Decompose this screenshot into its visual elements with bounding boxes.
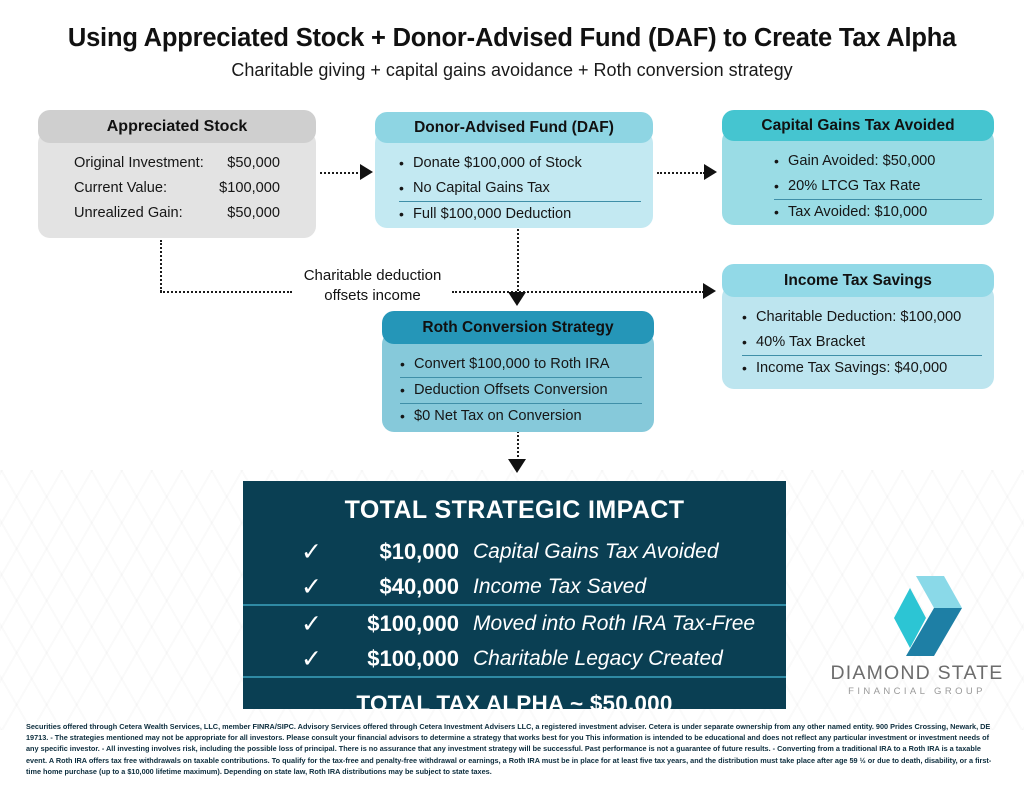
card-title-donor-advised-fund: Donor-Advised Fund (DAF) xyxy=(375,112,653,143)
list-item: 40% Tax Bracket xyxy=(742,330,982,356)
logo-wordmark: DIAMOND STATE xyxy=(824,662,1010,685)
card-title-capital-gains: Capital Gains Tax Avoided xyxy=(722,110,994,141)
list-item: Income Tax Savings: $40,000 xyxy=(742,356,982,381)
list-item: Unrealized Gain: $50,000 xyxy=(38,201,316,226)
metric-value: $100,000 xyxy=(206,176,280,201)
page-title: Using Appreciated Stock + Donor-Advised … xyxy=(0,24,1024,53)
list-item: Tax Avoided: $10,000 xyxy=(774,200,982,225)
impact-amount: $40,000 xyxy=(341,574,459,600)
check-icon: ✓ xyxy=(301,575,341,600)
arrow-stock-to-daf-icon xyxy=(360,164,373,180)
card-title-roth-conversion: Roth Conversion Strategy xyxy=(382,311,654,344)
infographic-canvas: Using Appreciated Stock + Donor-Advised … xyxy=(0,0,1024,791)
disclaimer-text: Securities offered through Cetera Wealth… xyxy=(26,721,1001,777)
metric-value: $50,000 xyxy=(206,151,280,176)
connector-daf-to-roth xyxy=(517,226,519,294)
card-body-donor-advised-fund: Donate $100,000 of Stock No Capital Gain… xyxy=(375,131,653,228)
card-donor-advised-fund: Donor-Advised Fund (DAF) Donate $100,000… xyxy=(375,112,653,228)
connector-roth-to-impact xyxy=(517,428,519,461)
card-body-income-tax-savings: Charitable Deduction: $100,000 40% Tax B… xyxy=(722,285,994,389)
metric-value: $50,000 xyxy=(206,201,280,226)
arrow-to-income-tax-savings-icon xyxy=(703,283,716,299)
list-item: Charitable Deduction: $100,000 xyxy=(742,305,982,330)
card-roth-conversion-strategy: Roth Conversion Strategy Convert $100,00… xyxy=(382,311,654,432)
impact-description: Capital Gains Tax Avoided xyxy=(473,540,719,564)
impact-title: TOTAL STRATEGIC IMPACT xyxy=(243,481,786,525)
connector-label-line-1: Charitable deduction xyxy=(290,266,455,286)
impact-amount: $10,000 xyxy=(341,539,459,565)
impact-rows-list: ✓ $10,000 Capital Gains Tax Avoided ✓ $4… xyxy=(243,534,786,678)
income-tax-bullet-list: Charitable Deduction: $100,000 40% Tax B… xyxy=(722,297,994,381)
table-row: ✓ $10,000 Capital Gains Tax Avoided xyxy=(243,534,786,570)
check-icon: ✓ xyxy=(301,540,341,565)
connector-deduction-right-segment xyxy=(452,291,704,293)
impact-description: Income Tax Saved xyxy=(473,575,646,599)
daf-bullet-list: Donate $100,000 of Stock No Capital Gain… xyxy=(375,143,653,227)
card-appreciated-stock: Appreciated Stock Original Investment: $… xyxy=(38,110,316,238)
card-body-appreciated-stock: Original Investment: $50,000 Current Val… xyxy=(38,131,316,238)
list-item: No Capital Gains Tax xyxy=(399,176,641,202)
card-capital-gains-tax-avoided: Capital Gains Tax Avoided Gain Avoided: … xyxy=(722,110,994,225)
list-item: Donate $100,000 of Stock xyxy=(399,151,641,176)
metric-label: Original Investment: xyxy=(74,151,204,176)
table-row: ✓ $100,000 Charitable Legacy Created xyxy=(243,642,786,678)
diamond-chevron-logo-icon xyxy=(858,574,978,662)
list-item: Original Investment: $50,000 xyxy=(38,151,316,176)
list-item: $0 Net Tax on Conversion xyxy=(400,404,642,429)
metric-label: Unrealized Gain: xyxy=(74,201,183,226)
list-item: Current Value: $100,000 xyxy=(38,176,316,201)
impact-amount: $100,000 xyxy=(341,611,459,637)
list-item: Full $100,000 Deduction xyxy=(399,202,641,227)
card-title-appreciated-stock: Appreciated Stock xyxy=(38,110,316,143)
card-income-tax-savings: Income Tax Savings Charitable Deduction:… xyxy=(722,264,994,389)
total-strategic-impact-panel: TOTAL STRATEGIC IMPACT ✓ $10,000 Capital… xyxy=(243,481,786,709)
list-item: Convert $100,000 to Roth IRA xyxy=(400,352,642,378)
check-icon: ✓ xyxy=(301,612,341,637)
connector-deduction-left-segment xyxy=(160,291,292,293)
table-row: ✓ $40,000 Income Tax Saved xyxy=(243,570,786,606)
list-item: Deduction Offsets Conversion xyxy=(400,378,642,404)
card-body-roth-conversion: Convert $100,000 to Roth IRA Deduction O… xyxy=(382,332,654,432)
list-item: 20% LTCG Tax Rate xyxy=(774,174,982,200)
card-body-capital-gains: Gain Avoided: $50,000 20% LTCG Tax Rate … xyxy=(722,129,994,225)
arrow-daf-to-roth-icon xyxy=(508,292,526,306)
connector-stock-down xyxy=(160,240,162,292)
impact-amount: $100,000 xyxy=(341,646,459,672)
table-row: ✓ $100,000 Moved into Roth IRA Tax-Free xyxy=(243,606,786,642)
capital-gains-bullet-list: Gain Avoided: $50,000 20% LTCG Tax Rate … xyxy=(722,141,994,225)
list-item: Gain Avoided: $50,000 xyxy=(774,149,982,174)
check-icon: ✓ xyxy=(301,647,341,672)
impact-description: Moved into Roth IRA Tax-Free xyxy=(473,612,755,636)
metric-label: Current Value: xyxy=(74,176,167,201)
logo-subwordmark: FINANCIAL GROUP xyxy=(824,686,1010,697)
arrow-daf-to-capital-gains-icon xyxy=(704,164,717,180)
card-title-income-tax-savings: Income Tax Savings xyxy=(722,264,994,297)
company-logo: DIAMOND STATE FINANCIAL GROUP xyxy=(824,574,1010,700)
page-subtitle: Charitable giving + capital gains avoida… xyxy=(0,60,1024,81)
stock-metrics-list: Original Investment: $50,000 Current Val… xyxy=(38,143,316,226)
connector-stock-to-daf xyxy=(320,172,362,174)
roth-bullet-list: Convert $100,000 to Roth IRA Deduction O… xyxy=(382,344,654,429)
impact-description: Charitable Legacy Created xyxy=(473,647,723,671)
connector-daf-to-capital-gains xyxy=(657,172,705,174)
connector-label-charitable-deduction: Charitable deduction offsets income xyxy=(290,266,455,306)
impact-total-line: TOTAL TAX ALPHA ~ $50,000 xyxy=(243,691,786,717)
arrow-roth-to-impact-icon xyxy=(508,459,526,473)
connector-label-line-2: offsets income xyxy=(290,286,455,306)
